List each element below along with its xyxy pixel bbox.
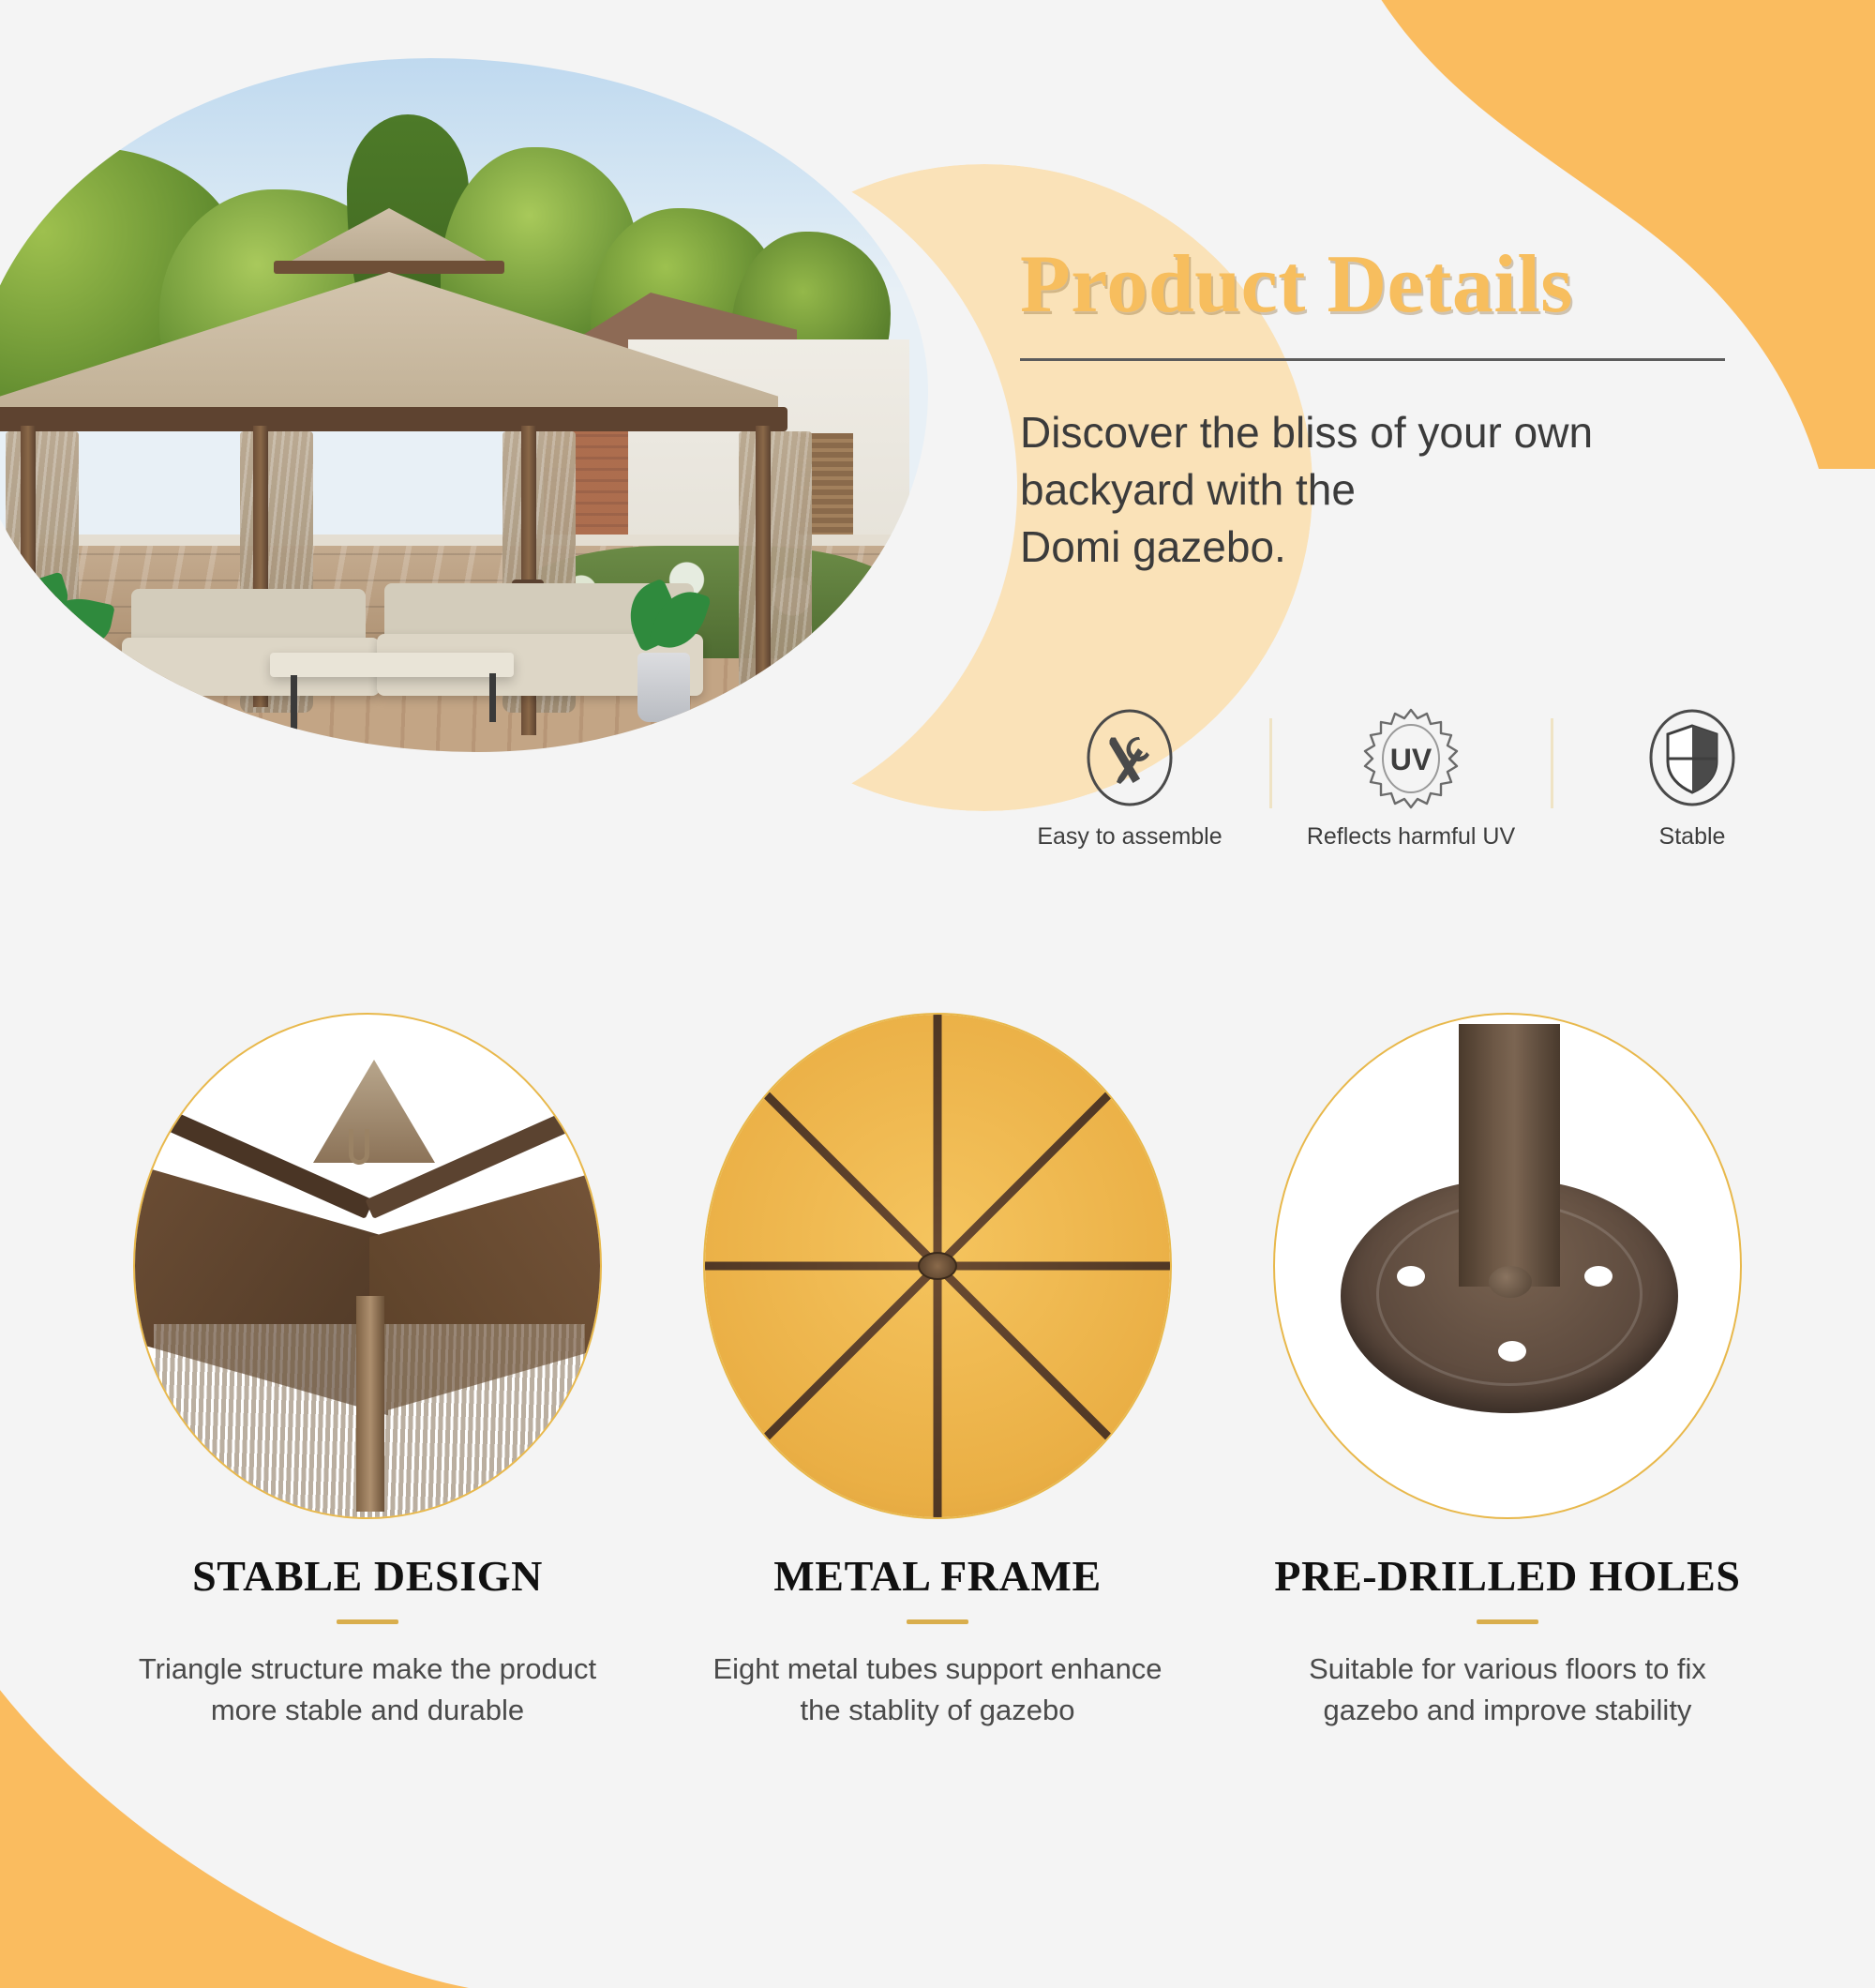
gazebo-leg-post bbox=[1459, 1024, 1560, 1287]
pre-drilled-hole bbox=[1397, 1266, 1425, 1287]
feature-stable: Stable bbox=[1584, 705, 1800, 851]
plant-pot bbox=[637, 653, 690, 722]
feature-label: Stable bbox=[1659, 823, 1726, 851]
pre-drilled-hole bbox=[1498, 1341, 1526, 1362]
base-plate-nub bbox=[1489, 1266, 1532, 1298]
feature-easy-to-assemble: Easy to assemble bbox=[1022, 705, 1237, 851]
card-description: Eight metal tubes support enhance the st… bbox=[637, 1649, 1237, 1731]
gazebo-post bbox=[756, 426, 771, 698]
table-leg bbox=[291, 675, 297, 730]
card-divider bbox=[337, 1619, 398, 1624]
detail-card-metal-frame: METAL FRAME Eight metal tubes support en… bbox=[637, 1013, 1237, 1731]
shield-icon bbox=[1643, 705, 1741, 810]
gazebo-netting-curtain bbox=[739, 431, 812, 713]
card-title: STABLE DESIGN bbox=[67, 1551, 667, 1601]
wrench-screwdriver-icon bbox=[1081, 705, 1178, 810]
detail-cards-section: STABLE DESIGN Triangle structure make th… bbox=[0, 1013, 1875, 1782]
title-divider bbox=[1020, 358, 1725, 361]
center-hub bbox=[918, 1252, 957, 1280]
uv-badge-text: UV bbox=[1390, 743, 1432, 776]
canopy-metal-spokes-image bbox=[703, 1013, 1172, 1519]
gazebo-corner-detail-image bbox=[133, 1013, 602, 1519]
pre-drilled-hole bbox=[1584, 1266, 1612, 1287]
detail-card-stable-design: STABLE DESIGN Triangle structure make th… bbox=[67, 1013, 667, 1731]
page-title: Product Details bbox=[1020, 242, 1798, 328]
metal-tube-spoke bbox=[703, 1262, 937, 1271]
gazebo-upper-canopy-trim bbox=[274, 261, 504, 274]
feature-reflects-uv: UV Reflects harmful UV bbox=[1303, 705, 1519, 851]
hero-product-photo bbox=[0, 58, 928, 752]
card-description: Suitable for various floors to fix gazeb… bbox=[1207, 1649, 1807, 1731]
table-leg bbox=[489, 673, 496, 722]
plant-pot bbox=[26, 649, 82, 722]
detail-card-pre-drilled-holes: PRE-DRILLED HOLES Suitable for various f… bbox=[1207, 1013, 1807, 1731]
card-description: Triangle structure make the product more… bbox=[67, 1649, 667, 1731]
feature-divider bbox=[1269, 718, 1272, 808]
coffee-table bbox=[270, 653, 514, 677]
canopy-peak bbox=[313, 1060, 435, 1163]
card-title: METAL FRAME bbox=[637, 1551, 1237, 1601]
feature-label: Reflects harmful UV bbox=[1307, 823, 1515, 851]
feature-label: Easy to assemble bbox=[1037, 823, 1222, 851]
card-divider bbox=[1477, 1619, 1538, 1624]
feature-badge-row: Easy to assemble UV Reflects harmful UV bbox=[1022, 705, 1800, 851]
metal-tube-spoke bbox=[937, 1262, 1172, 1271]
feature-divider bbox=[1551, 718, 1553, 808]
hero-lead-text: Discover the bliss of your own backyard … bbox=[1020, 404, 1798, 575]
uv-sunburst-icon: UV bbox=[1358, 705, 1463, 810]
gazebo-canopy-trim bbox=[0, 407, 787, 431]
metal-tube-spoke bbox=[934, 1266, 942, 1519]
corner-post bbox=[356, 1296, 384, 1512]
hero-section: Product Details Discover the bliss of yo… bbox=[0, 0, 1875, 975]
base-plate-holes-image bbox=[1273, 1013, 1742, 1519]
card-title: PRE-DRILLED HOLES bbox=[1207, 1551, 1807, 1601]
card-divider bbox=[907, 1619, 968, 1624]
corner-bracket bbox=[349, 1129, 369, 1165]
hero-text-column: Product Details Discover the bliss of yo… bbox=[1020, 242, 1798, 576]
metal-tube-spoke bbox=[934, 1013, 942, 1266]
